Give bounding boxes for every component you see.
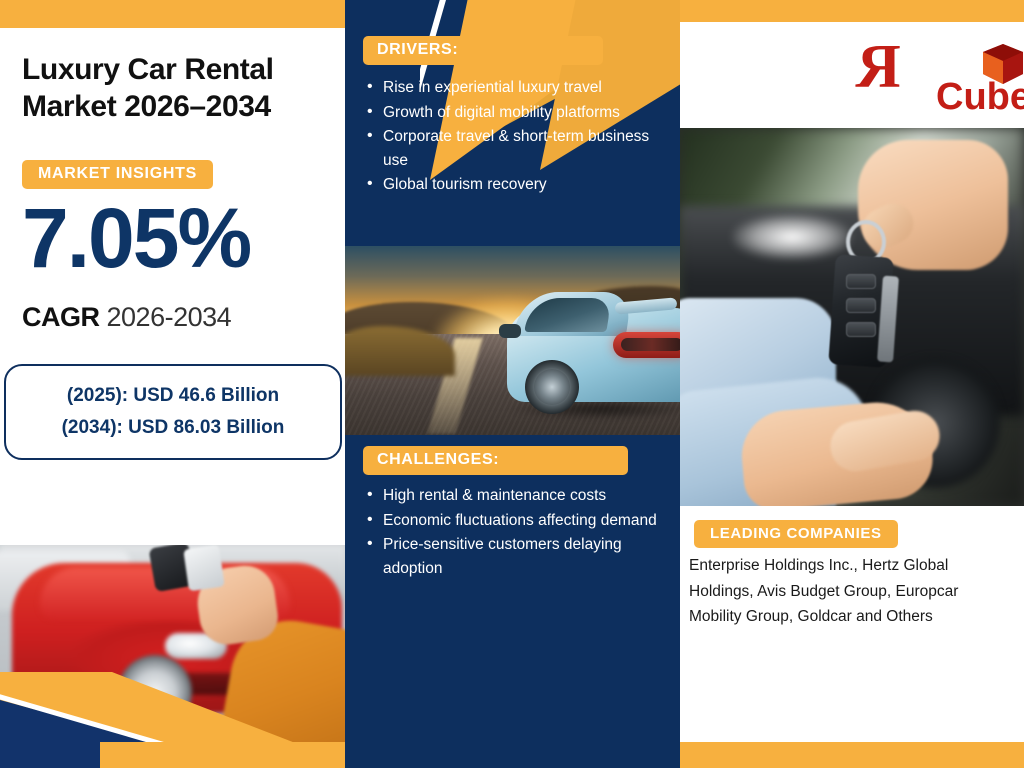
market-size-box: (2025): USD 46.6 Billion (2034): USD 86.… bbox=[4, 364, 342, 460]
car-highlight bbox=[732, 214, 852, 260]
challenges-badge: CHALLENGES: bbox=[363, 446, 628, 475]
leading-companies-text: Enterprise Holdings Inc., Hertz Global H… bbox=[689, 553, 1011, 630]
market-size-2034: (2034): USD 86.03 Billion bbox=[62, 417, 285, 439]
drivers-badge: DRIVERS: bbox=[363, 36, 603, 65]
brand-logo[interactable]: R Cube bbox=[856, 34, 1006, 104]
left-panel: Luxury Car Rental Market 2026–2034 MARKE… bbox=[0, 0, 345, 768]
right-photo-key-handover bbox=[680, 128, 1024, 506]
key-trunk-button bbox=[846, 298, 876, 313]
right-bottom-orange-bar bbox=[680, 742, 1024, 768]
page-title: Luxury Car Rental Market 2026–2034 bbox=[22, 52, 332, 125]
blue-sports-car bbox=[497, 286, 680, 426]
challenges-list: High rental & maintenance costs Economic… bbox=[367, 484, 667, 581]
list-item: Global tourism recovery bbox=[367, 173, 667, 197]
cagr-caption: CAGR 2026-2034 bbox=[22, 302, 332, 333]
car-side-mirror bbox=[499, 324, 521, 338]
right-panel: R Cube LEAD bbox=[680, 0, 1024, 768]
list-item: Economic fluctuations affecting demand bbox=[367, 509, 667, 533]
cube-icon bbox=[981, 42, 1024, 88]
drivers-list: Rise in experiential luxury travel Growt… bbox=[367, 76, 667, 198]
list-item: Rise in experiential luxury travel bbox=[367, 76, 667, 100]
list-item: Corporate travel & short-term business u… bbox=[367, 125, 667, 172]
left-photo-car-key bbox=[0, 545, 345, 768]
title-line-1: Luxury Car Rental bbox=[22, 52, 332, 89]
infographic-canvas: Luxury Car Rental Market 2026–2034 MARKE… bbox=[0, 0, 1024, 768]
market-insights-badge: MARKET INSIGHTS bbox=[22, 160, 213, 189]
key-lock-button bbox=[846, 274, 876, 289]
right-top-orange-bar bbox=[680, 0, 1024, 22]
market-size-2025: (2025): USD 46.6 Billion bbox=[67, 385, 279, 407]
left-top-orange-bar bbox=[0, 0, 345, 28]
middle-photo-sports-car bbox=[345, 246, 680, 435]
list-item: High rental & maintenance costs bbox=[367, 484, 667, 508]
car-wheel bbox=[525, 360, 579, 414]
key-tag bbox=[183, 545, 224, 591]
list-item: Growth of digital mobility platforms bbox=[367, 101, 667, 125]
cagr-value: 7.05% bbox=[22, 196, 332, 280]
title-line-2: Market 2026–2034 bbox=[22, 89, 332, 126]
list-item: Price-sensitive customers delaying adopt… bbox=[367, 533, 667, 580]
car-taillight-inner bbox=[621, 338, 680, 351]
key-unlock-button bbox=[846, 322, 876, 337]
logo-r-mark: R bbox=[856, 36, 901, 98]
cagr-period: 2026-2034 bbox=[107, 302, 232, 332]
car-wheel-front bbox=[118, 655, 192, 729]
cagr-label: CAGR bbox=[22, 302, 100, 332]
leading-companies-badge: LEADING COMPANIES bbox=[694, 520, 898, 548]
